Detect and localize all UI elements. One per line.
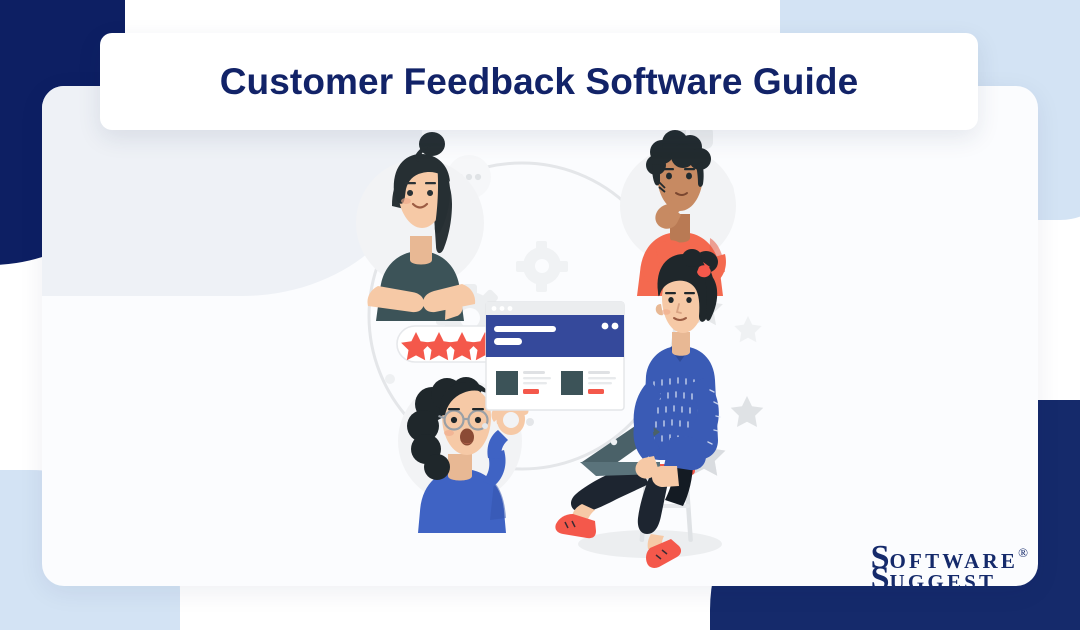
decor-dot-2 [482, 423, 488, 429]
card-button [588, 389, 604, 394]
title-card: Customer Feedback Software Guide [100, 33, 978, 130]
card-thumb [561, 371, 583, 395]
laptop-logo [611, 439, 617, 445]
hero-cta-bar [494, 338, 522, 345]
card-thumb [496, 371, 518, 395]
logo-word-suggest: UGGEST [890, 565, 997, 592]
card-button [523, 389, 539, 394]
illustration-canvas [42, 86, 1038, 586]
gear-icon-mid [516, 241, 568, 292]
decor-star-3 [731, 396, 764, 427]
decor-dot-1 [526, 418, 534, 426]
content-panel [42, 86, 1038, 586]
decor-star-2 [734, 316, 761, 342]
softwaresuggest-logo[interactable]: S OFTWARE ® S UGGEST [871, 544, 1028, 592]
browser-titlebar [486, 302, 624, 315]
shoe-left [555, 514, 596, 538]
browser-hero [486, 315, 624, 357]
decor-dot-3 [385, 374, 395, 384]
logo-cap-s2: S [871, 565, 890, 592]
hero-headline-bar [494, 326, 556, 332]
screenshot-root: Customer Feedback Software Guide S OFTWA… [0, 0, 1080, 630]
browser-titlebar-dots [492, 306, 513, 311]
open-mouth [460, 429, 474, 446]
browser-window-mockup [486, 302, 624, 410]
registered-trademark-icon: ® [1018, 544, 1028, 559]
page-title: Customer Feedback Software Guide [220, 61, 859, 103]
